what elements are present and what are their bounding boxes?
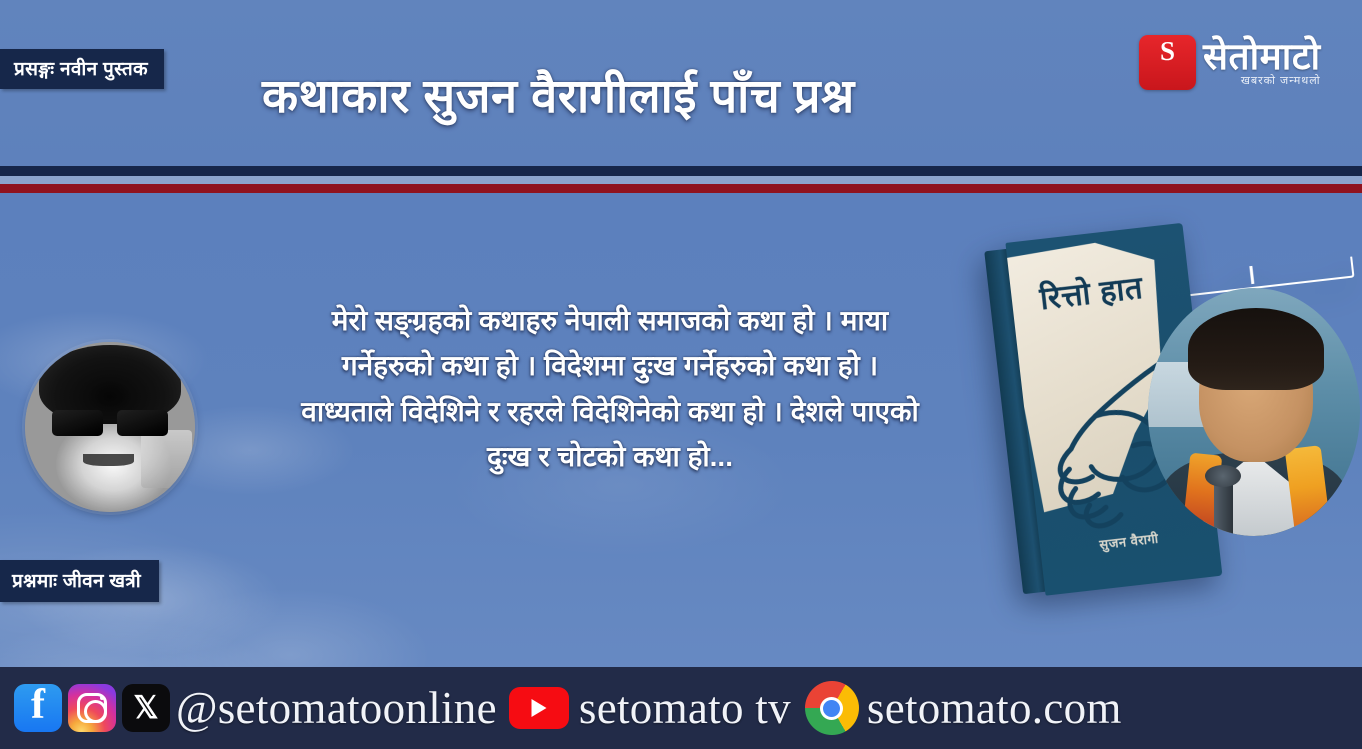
chrome-browser-icon[interactable] [805,681,859,735]
page-title: कथाकार सुजन वैरागीलाई पाँच प्रश्न [262,62,855,126]
author-hair [1188,308,1324,390]
divider-navy [0,166,1362,176]
quote-text: मेरो सङ्ग्रहको कथाहरु नेपाली समाजको कथा … [300,298,920,479]
divider-red [0,184,1362,193]
sunglasses-icon [52,410,168,436]
logo-mark-icon: S [1139,35,1196,90]
interviewer-name-badge: प्रश्नमाः जीवन खत्री [0,560,159,602]
x-twitter-icon[interactable] [122,684,170,732]
setomato-logo[interactable]: S सेतोमाटो खबरको जन्मथलो [1139,33,1344,91]
instagram-icon[interactable] [68,684,116,732]
facebook-icon[interactable] [14,684,62,732]
header-bar: प्रसङ्गः नवीन पुस्तक कथाकार सुजन वैरागील… [0,0,1362,166]
footer-social-bar: @setomatoonline setomato tv setomato.com [0,667,1362,749]
logo-name: सेतोमाटो [1203,38,1321,75]
logo-text-group: सेतोमाटो खबरको जन्मथलो [1203,38,1321,87]
avatar-mouth [83,454,134,466]
social-handle[interactable]: @setomatoonline [176,682,497,734]
microphone-icon [1214,476,1233,536]
youtube-icon[interactable] [509,687,569,729]
divider-light [0,176,1362,184]
avatar-background-detail [141,430,192,488]
author-avatar [1148,288,1360,536]
website-label[interactable]: setomato.com [867,682,1122,734]
logo-tagline: खबरको जन्मथलो [1203,76,1321,87]
social-media-graphic-card: प्रसङ्गः नवीन पुस्तक कथाकार सुजन वैरागील… [0,0,1362,749]
youtube-channel-label[interactable]: setomato tv [579,682,791,734]
avatar-photo [25,342,195,512]
interviewer-avatar [25,342,195,512]
topic-badge: प्रसङ्गः नवीन पुस्तक [0,49,164,89]
logo-letter: S [1139,38,1196,65]
